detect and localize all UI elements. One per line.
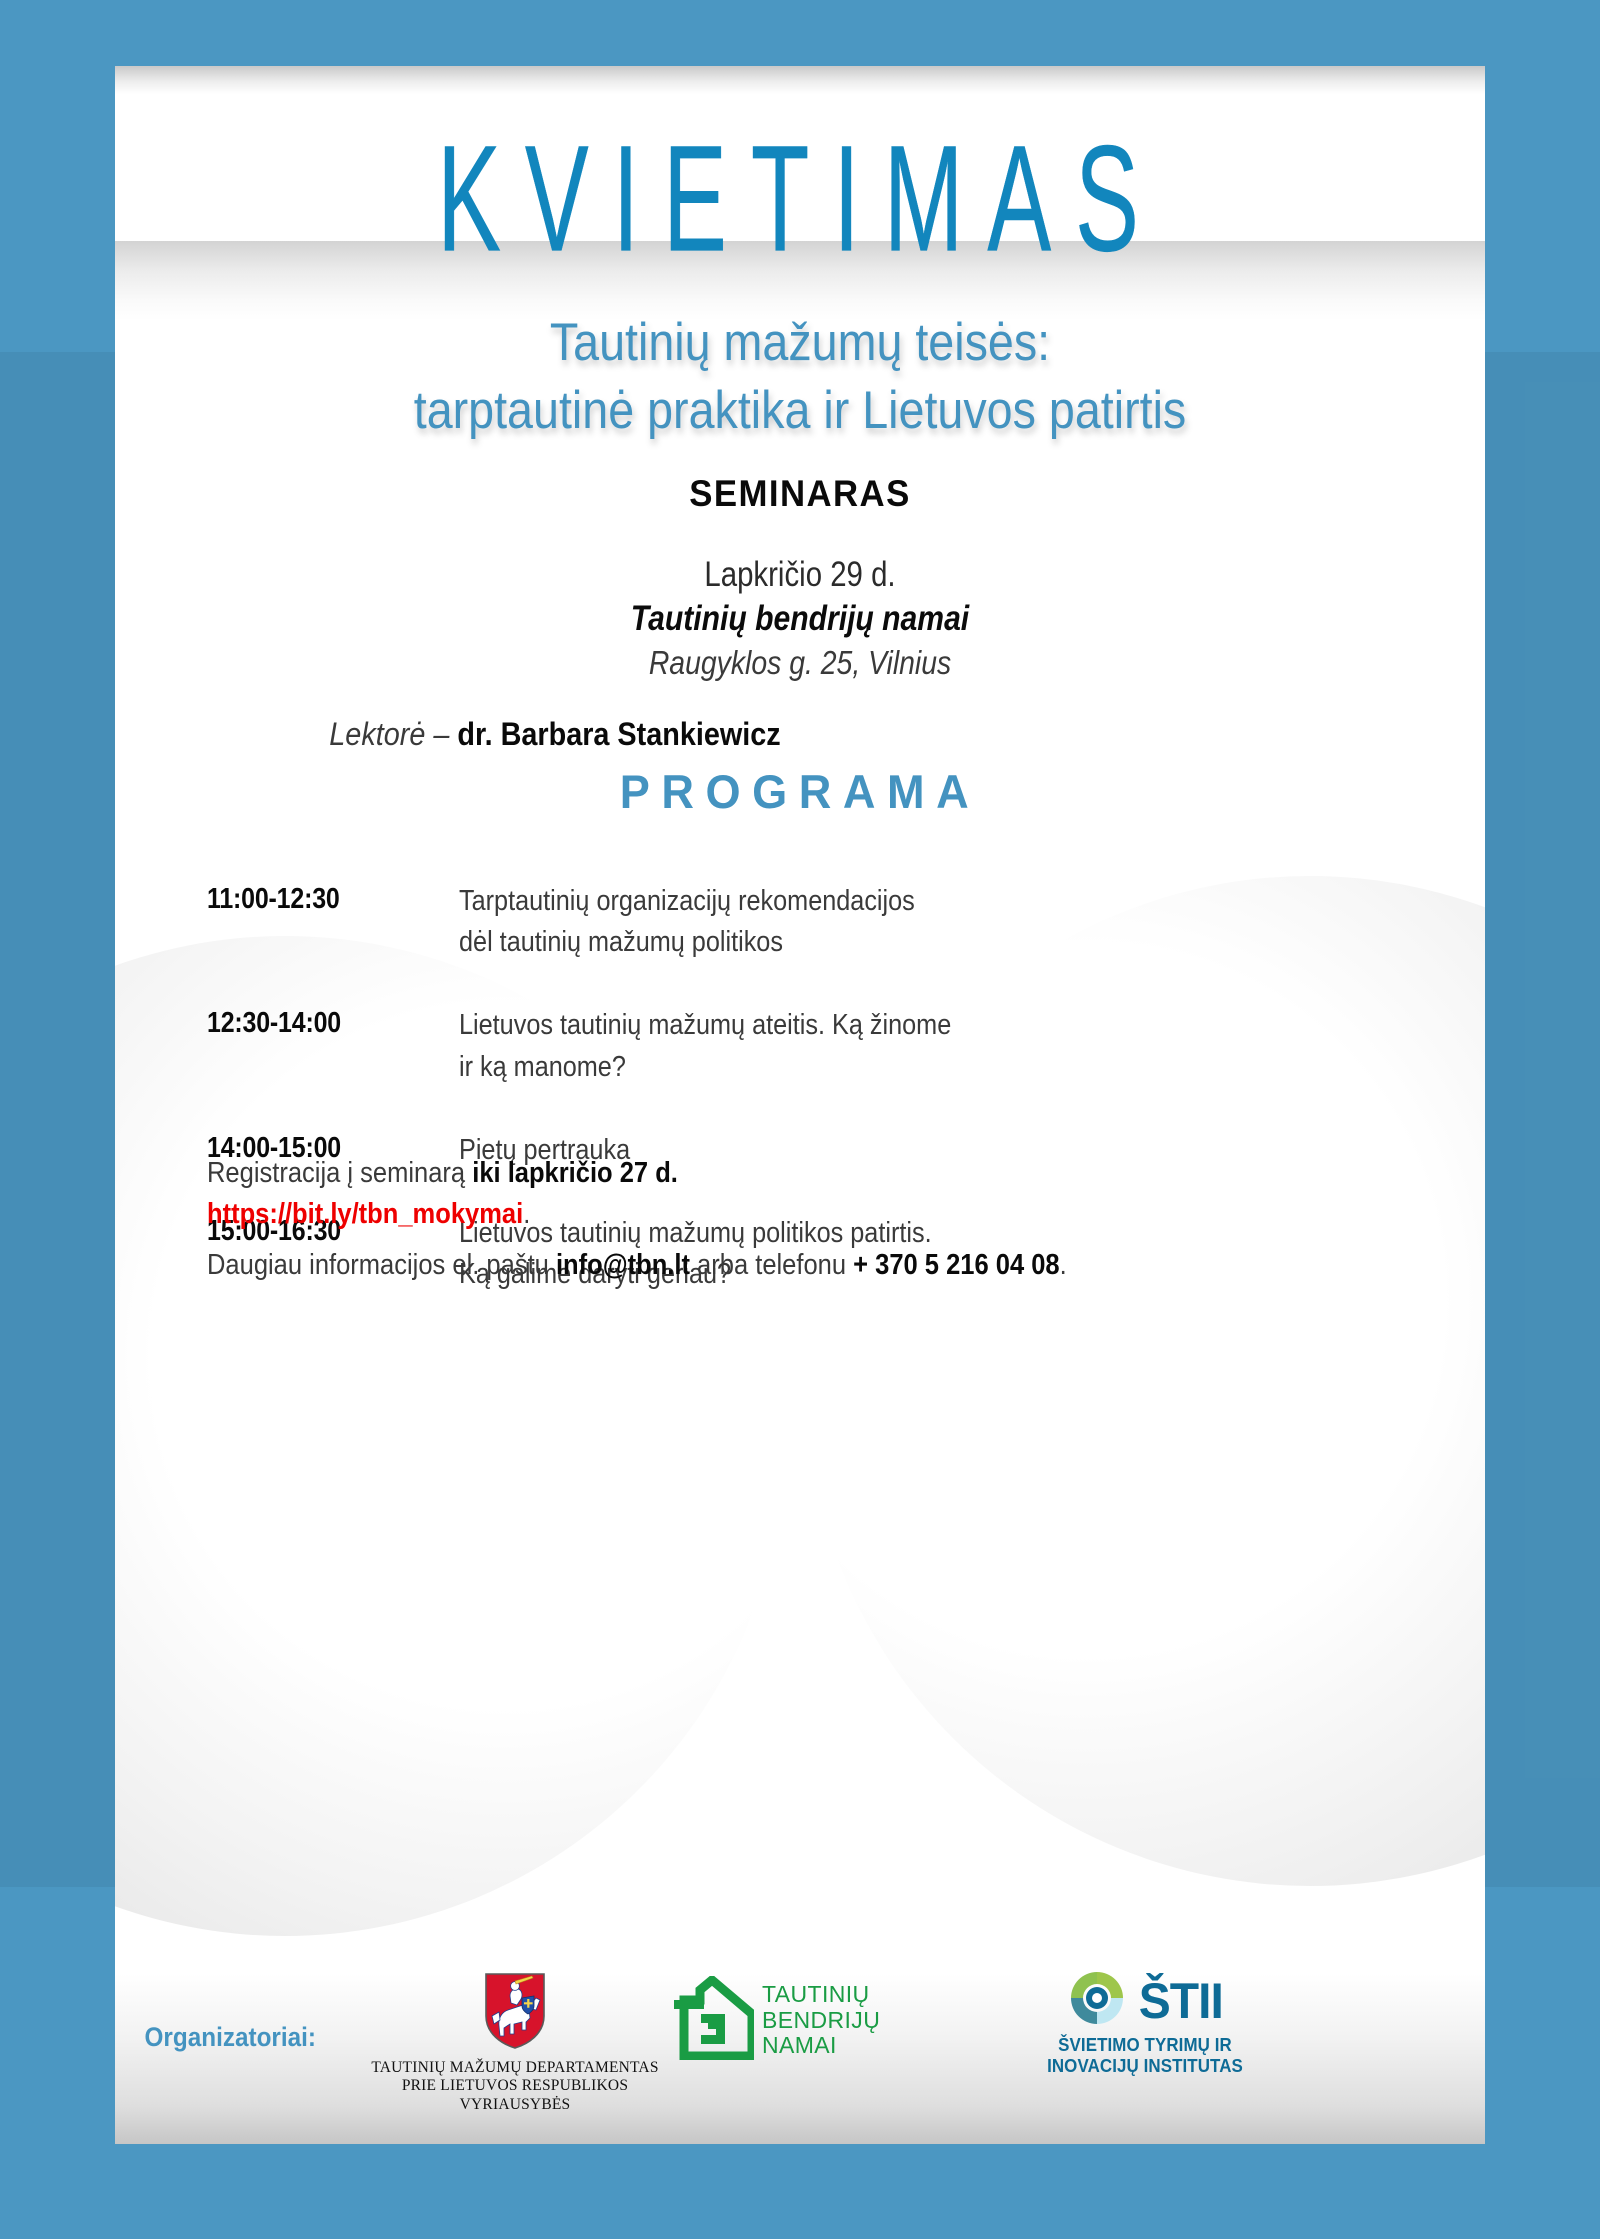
poster-sheet: KVIETIMAS Tautinių mažumų teisės: tarpta…: [115, 66, 1485, 2144]
registration-url-period: .: [523, 1198, 530, 1230]
contact-line: Daugiau informacijos el. paštu info@tbn.…: [207, 1249, 1296, 1282]
registration-block: Registracija į seminarą iki lapkričio 27…: [207, 1153, 1279, 1234]
subtitle-line-1: Tautinių mažumų teisės:: [232, 309, 1367, 377]
lecturer-line: Lektorė – dr. Barbara Stankiewicz: [159, 716, 951, 753]
stii-caption-line-2: INOVACIJŲ INSTITUTAS: [1004, 2056, 1286, 2077]
contact-phone[interactable]: + 370 5 216 04 08: [853, 1249, 1059, 1281]
tmd-caption-line-1: TAUTINIŲ MAŽUMŲ DEPARTAMENTAS: [360, 2059, 670, 2077]
lecturer-name: dr. Barbara Stankiewicz: [457, 716, 780, 752]
logo-tautiniu-bendriju-namai: TAUTINIŲ BENDRIJŲ NAMAI: [670, 1976, 970, 2065]
event-details: Lapkričio 29 d. Tautinių bendrijų namai …: [115, 553, 1485, 685]
contact-text-end: .: [1060, 1249, 1067, 1281]
contact-text-middle: arba telefonu: [690, 1249, 853, 1281]
schedule-row: 12:30-14:00 Lietuvos tautinių mažumų ate…: [207, 1005, 1415, 1087]
schedule-description: Lietuvos tautinių mažumų ateitis. Ką žin…: [459, 1005, 951, 1087]
event-type-label: SEMINARAS: [156, 473, 1444, 515]
tbn-house-icon: [670, 1976, 754, 2065]
page-title: KVIETIMAS: [170, 114, 1430, 287]
registration-deadline-line: Registracija į seminarą iki lapkričio 27…: [207, 1153, 1279, 1194]
tbn-line-2: BENDRIJŲ: [762, 2008, 880, 2034]
venue-name: Tautinių bendrijų namai: [211, 597, 1389, 642]
registration-deadline: iki lapkričio 27 d.: [472, 1157, 678, 1189]
schedule-row: 11:00-12:30 Tarptautinių organizacijų re…: [207, 881, 1415, 963]
tbn-wordmark: TAUTINIŲ BENDRIJŲ NAMAI: [762, 1982, 880, 2059]
event-date: Lapkričio 29 d.: [225, 553, 1376, 597]
contact-email[interactable]: info@tbn.lt: [556, 1249, 690, 1281]
tbn-line-1: TAUTINIŲ: [762, 1982, 880, 2008]
logo-tautiniu-mazumu-departamentas: TAUTINIŲ MAŽUMŲ DEPARTAMENTAS PRIE LIETU…: [360, 1972, 670, 2114]
venue-address: Raugyklos g. 25, Vilnius: [211, 642, 1389, 685]
vytis-coat-of-arms-icon: [484, 2037, 546, 2054]
lecturer-label: Lektorė –: [329, 716, 457, 752]
schedule-time: 11:00-12:30: [207, 881, 424, 963]
tmd-caption: TAUTINIŲ MAŽUMŲ DEPARTAMENTAS PRIE LIETU…: [360, 2059, 670, 2114]
stii-swirl-icon: [1066, 1968, 1128, 2033]
schedule-description: Tarptautinių organizacijų rekomendacijos…: [459, 881, 915, 963]
stii-wordmark-row: ŠTII: [995, 1968, 1295, 2033]
programme-heading: PROGRAMA: [142, 764, 1457, 819]
stii-caption: ŠVIETIMO TYRIMŲ IR INOVACIJŲ INSTITUTAS: [1004, 2035, 1286, 2077]
stii-wordmark: ŠTII: [1138, 1972, 1222, 2030]
poster-content: KVIETIMAS Tautinių mažumų teisės: tarpta…: [115, 66, 1485, 2144]
registration-link[interactable]: https://bit.ly/tbn_mokymai: [207, 1198, 523, 1230]
tbn-line-3: NAMAI: [762, 2033, 880, 2059]
stii-caption-line-1: ŠVIETIMO TYRIMŲ IR: [1004, 2035, 1286, 2056]
subtitle: Tautinių mažumų teisės: tarptautinė prak…: [232, 309, 1367, 445]
registration-url-line: https://bit.ly/tbn_mokymai.: [207, 1194, 1279, 1235]
contact-text-before: Daugiau informacijos el. paštu: [207, 1249, 556, 1281]
registration-text: Registracija į seminarą: [207, 1157, 472, 1189]
schedule-time: 12:30-14:00: [207, 1005, 424, 1087]
logo-svietimo-tyrimu-ir-inovaciju-institutas: ŠTII ŠVIETIMO TYRIMŲ IR INOVACIJŲ INSTIT…: [995, 1968, 1295, 2077]
subtitle-line-2: tarptautinė praktika ir Lietuvos patirti…: [232, 377, 1367, 445]
organizers-label: Organizatoriai:: [127, 2022, 316, 2053]
tmd-caption-line-2: PRIE LIETUVOS RESPUBLIKOS VYRIAUSYBĖS: [360, 2077, 670, 2114]
footer-organizers: Organizatoriai:: [115, 1950, 1485, 2144]
